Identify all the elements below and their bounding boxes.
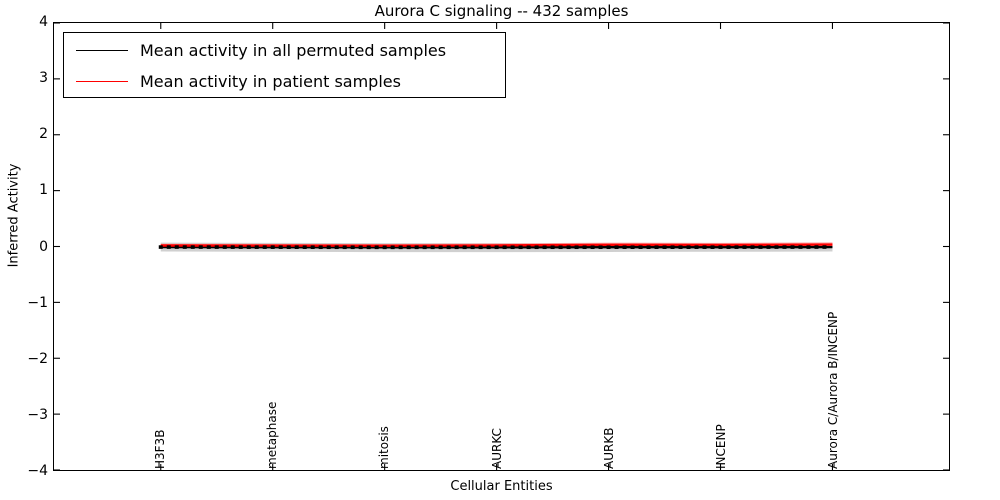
series-marker: [383, 246, 387, 250]
y-tick-label: −4: [4, 463, 48, 479]
series-marker: [766, 245, 770, 249]
series-marker: [798, 245, 802, 249]
series-marker: [719, 245, 723, 249]
series-marker: [743, 245, 747, 249]
y-tick-label: 0: [4, 239, 48, 255]
series-marker: [359, 246, 363, 250]
series-marker: [271, 245, 275, 249]
legend-label: Mean activity in patient samples: [140, 72, 401, 91]
series-marker: [295, 245, 299, 249]
series-marker: [415, 246, 419, 250]
series-marker: [439, 246, 443, 250]
series-marker: [774, 245, 778, 249]
series-marker: [215, 245, 219, 249]
series-marker: [447, 246, 451, 250]
series-marker: [407, 246, 411, 250]
series-marker: [703, 245, 707, 249]
series-marker: [463, 246, 467, 250]
y-tick-label: 2: [4, 126, 48, 142]
series-marker: [255, 245, 259, 249]
series-marker: [695, 245, 699, 249]
y-axis-tick-labels: 43210−1−2−3−4: [0, 22, 48, 471]
series-marker: [735, 245, 739, 249]
series-marker: [399, 246, 403, 250]
series-marker: [711, 245, 715, 249]
series-marker: [319, 245, 323, 249]
legend-entry: Mean activity in patient samples: [64, 67, 505, 97]
series-marker: [487, 245, 491, 249]
series-marker: [551, 245, 555, 249]
y-tick-label: −1: [4, 295, 48, 311]
series-marker: [782, 245, 786, 249]
series-marker: [822, 245, 826, 249]
chart-title: Aurora C signaling -- 432 samples: [53, 2, 950, 20]
series-marker: [175, 245, 179, 249]
x-axis-label: Cellular Entities: [53, 479, 950, 494]
series-marker: [591, 245, 595, 249]
series-marker: [375, 246, 379, 250]
series-marker: [391, 246, 395, 250]
series-marker: [231, 245, 235, 249]
series-marker: [303, 245, 307, 249]
series-marker: [671, 245, 675, 249]
series-marker: [751, 245, 755, 249]
y-tick-label: −2: [4, 351, 48, 367]
series-marker: [287, 245, 291, 249]
legend-entry: Mean activity in all permuted samples: [64, 36, 505, 66]
series-marker: [519, 245, 523, 249]
series-marker: [543, 245, 547, 249]
series-marker: [663, 245, 667, 249]
figure-canvas: Aurora C signaling -- 432 samples Inferr…: [0, 0, 1000, 500]
series-marker: [687, 245, 691, 249]
series-marker: [806, 245, 810, 249]
legend: Mean activity in all permuted samplesMea…: [63, 32, 506, 98]
y-tick-label: 1: [4, 182, 48, 198]
series-marker: [167, 245, 171, 249]
series-marker: [727, 245, 731, 249]
series-marker: [367, 246, 371, 250]
series-marker: [679, 245, 683, 249]
series-marker: [191, 245, 195, 249]
series-marker: [607, 245, 611, 249]
legend-line-swatch: [76, 81, 128, 82]
legend-line-swatch: [76, 50, 128, 51]
series-marker: [471, 246, 475, 250]
series-marker: [207, 245, 211, 249]
series-marker: [343, 245, 347, 249]
series-marker: [527, 245, 531, 249]
series-marker: [335, 245, 339, 249]
y-tick-label: 3: [4, 70, 48, 86]
series-marker: [599, 245, 603, 249]
series-marker: [351, 245, 355, 249]
series-marker: [223, 245, 227, 249]
series-marker: [559, 245, 563, 249]
series-marker: [279, 245, 283, 249]
y-tick-label: 4: [4, 14, 48, 30]
series-marker: [758, 245, 762, 249]
series-marker: [631, 245, 635, 249]
series-marker: [814, 245, 818, 249]
series-marker: [495, 245, 499, 249]
series-marker: [263, 245, 267, 249]
series-marker: [647, 245, 651, 249]
series-marker: [183, 245, 187, 249]
legend-label: Mean activity in all permuted samples: [140, 41, 446, 60]
series-marker: [639, 245, 643, 249]
series-marker: [583, 245, 587, 249]
series-marker: [655, 245, 659, 249]
series-marker: [423, 246, 427, 250]
series-marker: [247, 245, 251, 249]
series-marker: [535, 245, 539, 249]
series-marker: [455, 246, 459, 250]
series-marker: [239, 245, 243, 249]
y-tick-label: −3: [4, 407, 48, 423]
series-marker: [159, 245, 163, 249]
series-marker: [327, 245, 331, 249]
series-marker: [311, 245, 315, 249]
series-marker: [790, 245, 794, 249]
series-marker: [199, 245, 203, 249]
series-marker: [479, 245, 483, 249]
series-marker: [431, 246, 435, 250]
series-marker: [575, 245, 579, 249]
series-marker: [615, 245, 619, 249]
series-marker: [567, 245, 571, 249]
series-marker: [623, 245, 627, 249]
series-marker: [511, 245, 515, 249]
series-marker: [503, 245, 507, 249]
